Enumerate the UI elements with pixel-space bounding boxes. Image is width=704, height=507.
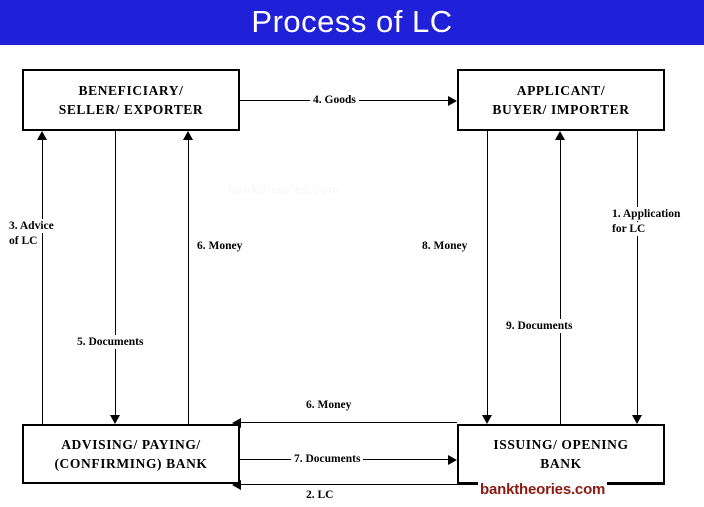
entity-beneficiary-line1: BENEFICIARY/ bbox=[79, 81, 184, 100]
arrowhead-documents-9 bbox=[555, 131, 565, 140]
connector-money-6-left-line bbox=[188, 140, 189, 424]
flow-label-goods: 4. Goods bbox=[310, 93, 359, 107]
flow-label-money-6-bottom: 6. Money bbox=[303, 398, 354, 412]
flow-label-documents-9: 9. Documents bbox=[503, 319, 575, 333]
connector-documents-9-line bbox=[560, 140, 561, 424]
entity-advising-line2: (CONFIRMING) BANK bbox=[54, 454, 207, 473]
page-title: Process of LC bbox=[0, 2, 704, 42]
arrowhead-goods bbox=[448, 96, 457, 106]
flow-label-advice-of-lc-line2: of LC bbox=[6, 234, 40, 248]
connector-money-8-line bbox=[487, 131, 488, 415]
connector-documents-5-line bbox=[115, 131, 116, 415]
arrowhead-advice-of-lc bbox=[37, 131, 47, 140]
connector-application-for-lc-line bbox=[637, 131, 638, 415]
flow-label-lc-2: 2. LC bbox=[303, 488, 336, 502]
flow-label-application-line2: for LC bbox=[609, 222, 648, 236]
arrowhead-money-8 bbox=[482, 415, 492, 424]
flow-label-money-8: 8. Money bbox=[419, 239, 470, 253]
flow-label-advice-of-lc-line1: 3. Advice bbox=[6, 219, 57, 233]
entity-issuing-line1: ISSUING/ OPENING bbox=[493, 435, 628, 454]
slide-canvas: Process of LC banktheories.com BENEFICIA… bbox=[0, 0, 704, 507]
flow-label-documents-7: 7. Documents bbox=[291, 452, 363, 466]
connector-money-6-bottom-line bbox=[240, 422, 457, 423]
flow-label-money-6-left: 6. Money bbox=[194, 239, 245, 253]
arrowhead-documents-5 bbox=[110, 415, 120, 424]
flow-label-documents-5: 5. Documents bbox=[74, 335, 146, 349]
entity-box-issuing-bank: ISSUING/ OPENING BANK bbox=[457, 424, 665, 484]
connector-advice-of-lc-line bbox=[42, 140, 43, 424]
entity-box-advising-bank: ADVISING/ PAYING/ (CONFIRMING) BANK bbox=[22, 424, 240, 484]
entity-beneficiary-line2: SELLER/ EXPORTER bbox=[59, 100, 204, 119]
arrowhead-money-6-left bbox=[183, 131, 193, 140]
arrowhead-application-for-lc bbox=[632, 415, 642, 424]
arrowhead-documents-7 bbox=[448, 455, 457, 465]
brand-watermark: banktheories.com bbox=[478, 481, 607, 498]
entity-issuing-line2: BANK bbox=[540, 454, 581, 473]
entity-box-beneficiary: BENEFICIARY/ SELLER/ EXPORTER bbox=[22, 69, 240, 131]
entity-advising-line1: ADVISING/ PAYING/ bbox=[61, 435, 201, 454]
entity-applicant-line1: APPLICANT/ bbox=[517, 81, 606, 100]
faint-watermark: banktheories.com bbox=[228, 182, 339, 197]
flow-label-application-line1: 1. Application bbox=[609, 207, 683, 221]
entity-applicant-line2: BUYER/ IMPORTER bbox=[492, 100, 629, 119]
entity-box-applicant: APPLICANT/ BUYER/ IMPORTER bbox=[457, 69, 665, 131]
